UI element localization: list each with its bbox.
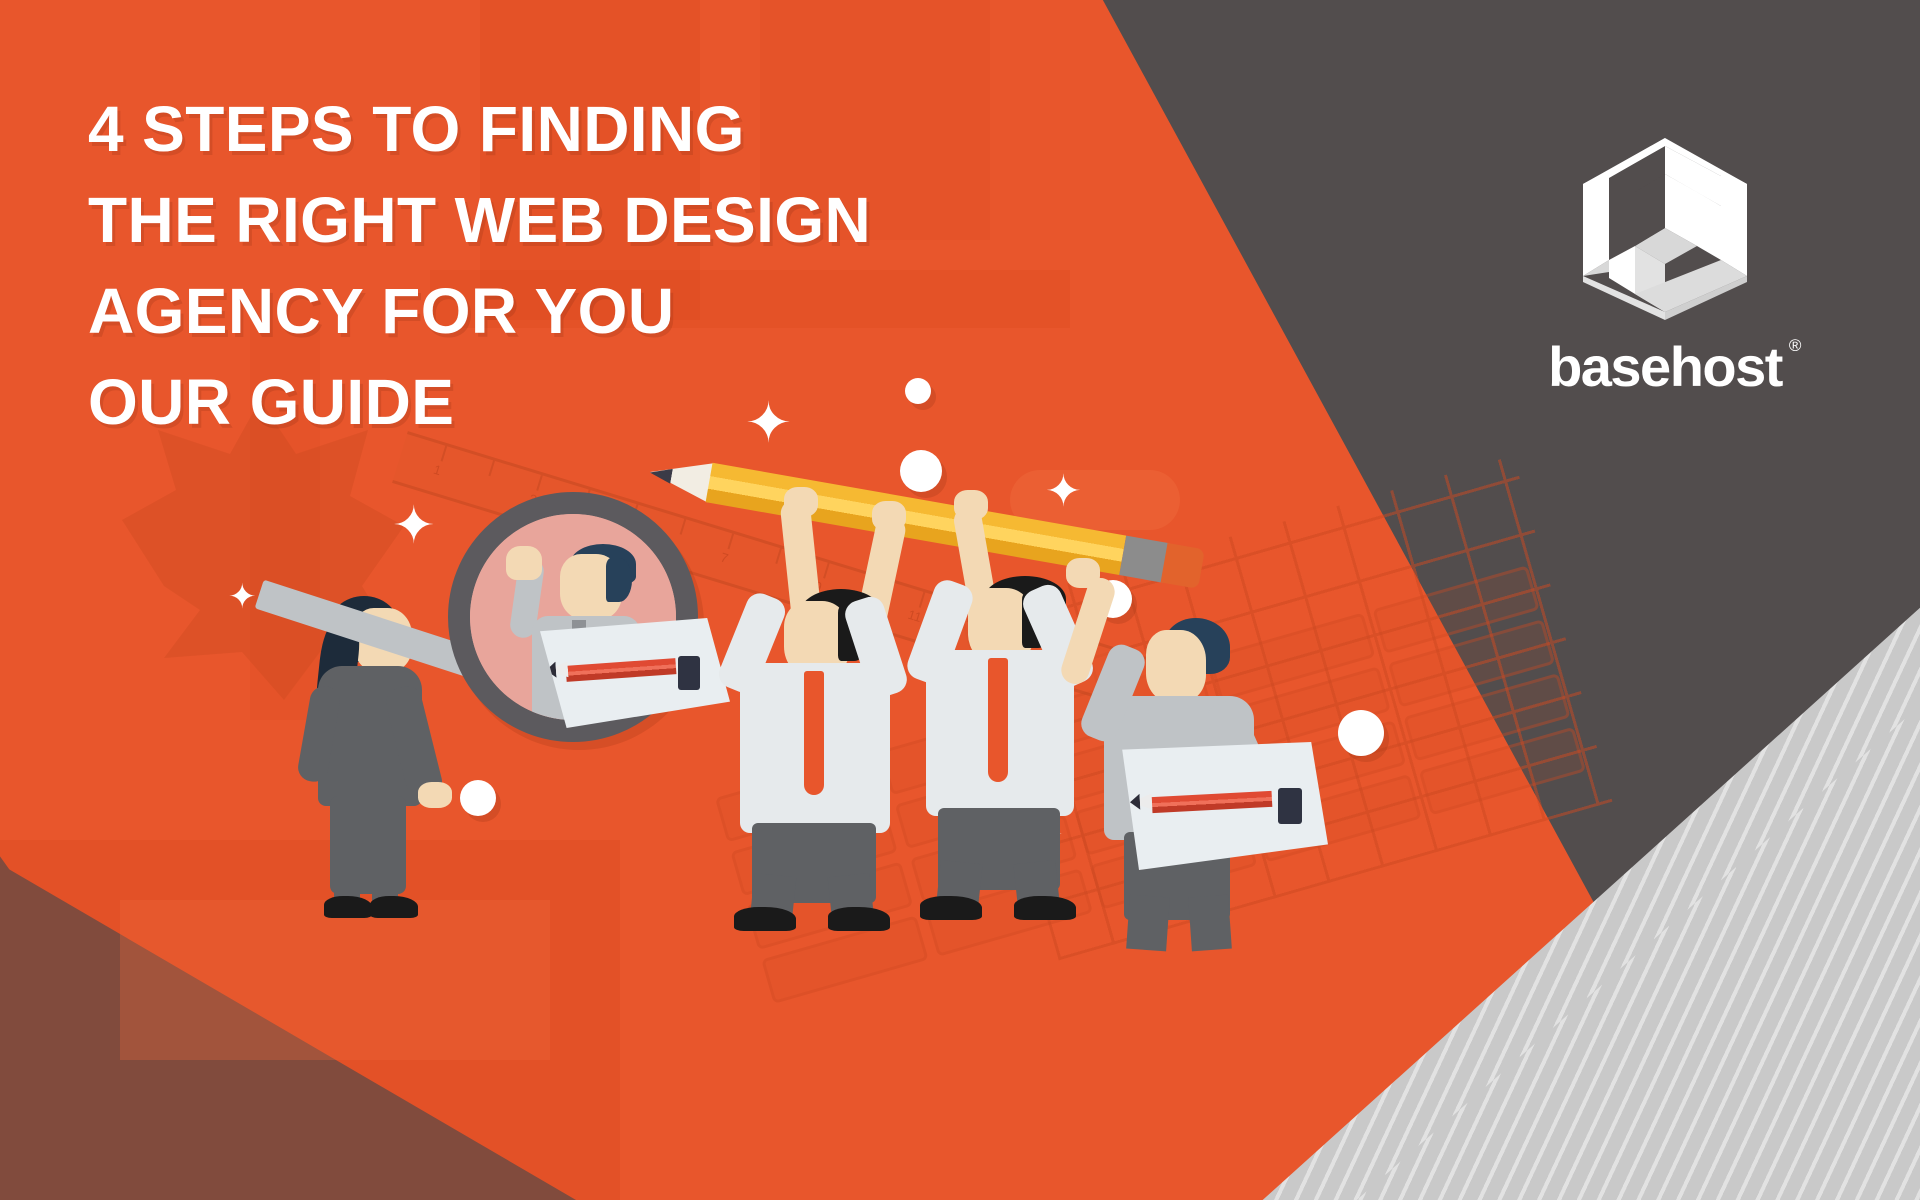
shoe-right	[1014, 896, 1076, 920]
dot-icon	[900, 450, 942, 492]
desk-tone-floor-2	[120, 900, 550, 1060]
headline-line-3: AGENCY FOR YOU	[88, 266, 1068, 357]
character-man-lifting-pencil	[700, 545, 930, 945]
sparkle-icon: ✦	[1045, 470, 1082, 514]
brand-name: basehost	[1548, 335, 1782, 398]
shoe-left	[920, 896, 982, 920]
dot-icon	[905, 378, 931, 404]
dot-icon	[1338, 710, 1384, 756]
phone-graphic	[678, 656, 700, 690]
sparkle-icon: ✦	[745, 395, 792, 451]
shoe-left	[734, 907, 796, 931]
sparkle-icon: ✦	[228, 580, 257, 614]
pencil-lead-graphic	[1130, 794, 1141, 811]
leg-right	[1188, 895, 1232, 952]
hand-waving	[506, 546, 542, 580]
red-pencil-graphic	[566, 658, 677, 682]
headline-line-1: 4 STEPS TO FINDING	[88, 84, 1068, 175]
registered-mark: ®	[1789, 336, 1800, 356]
banner-canvas: 1 3 5 7 9 11 13 15 4 STEPS TO FINDING TH…	[0, 0, 1920, 1200]
shoe-right	[828, 907, 890, 931]
brand-wordmark: basehost®	[1548, 334, 1782, 399]
hand-right	[872, 501, 906, 531]
head	[1146, 630, 1206, 702]
hand-right	[418, 782, 452, 808]
brand-logo[interactable]: basehost®	[1520, 130, 1810, 399]
hand-left	[784, 487, 818, 517]
tie	[988, 658, 1008, 782]
red-pencil-graphic	[1152, 791, 1273, 813]
headline-line-2: THE RIGHT WEB DESIGN	[88, 175, 1068, 266]
shoe-left	[324, 896, 372, 918]
phone-graphic	[1278, 788, 1302, 824]
hair-back	[606, 558, 632, 602]
sparkle-icon: ✦	[392, 500, 436, 552]
hexagon-b-logo-icon	[1565, 130, 1765, 320]
hand-left	[954, 490, 988, 520]
hand-left	[1066, 558, 1100, 588]
tie	[804, 671, 824, 795]
shoe-right	[370, 896, 418, 918]
leg-left	[1126, 895, 1170, 952]
